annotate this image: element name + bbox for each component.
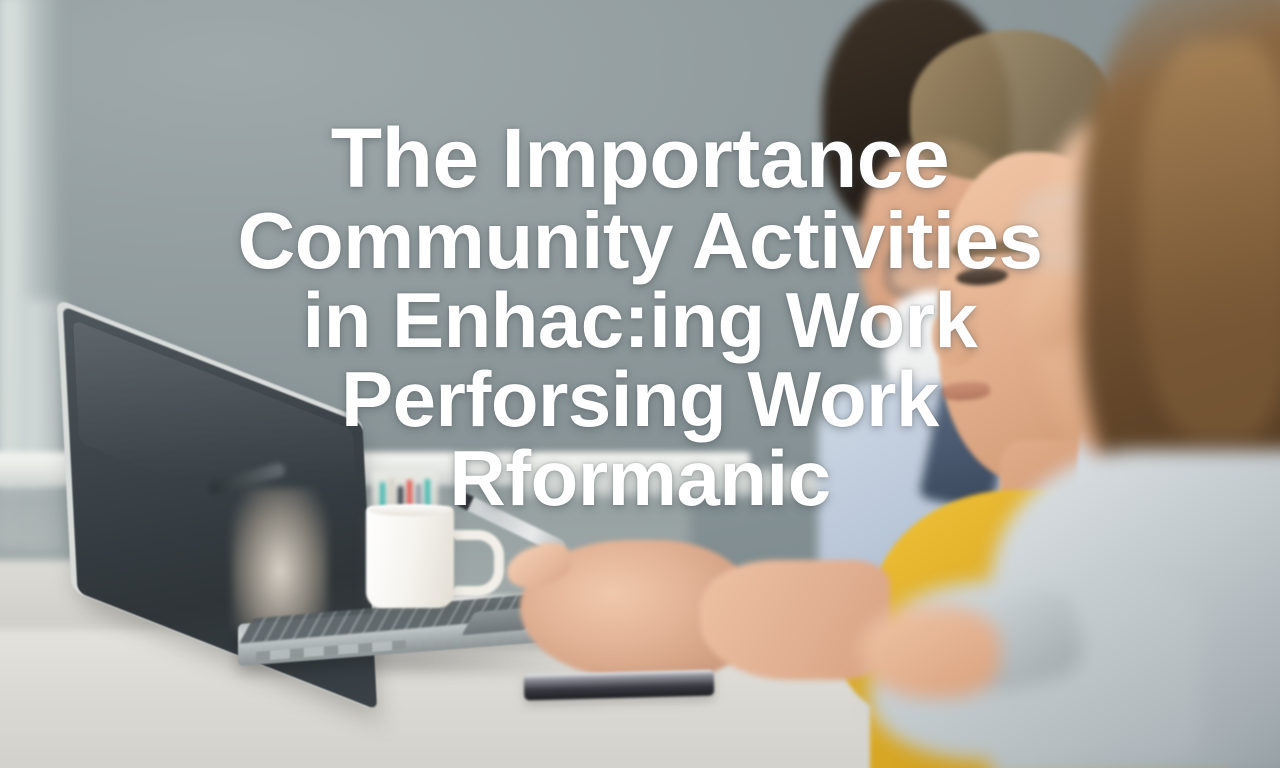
coffee-mug-rim (368, 504, 452, 516)
person-middle-nose (932, 308, 978, 366)
banner-image: The Importance Community Activities in E… (0, 0, 1280, 768)
coffee-mug (366, 506, 454, 608)
person-foreground-hand (860, 606, 1000, 698)
person-foreground (1020, 0, 1280, 768)
person-foreground-hair-highlight (1140, 40, 1280, 440)
smartphone (524, 670, 715, 701)
person-foreground-nose (1020, 280, 1080, 350)
coffee-mug-handle (446, 530, 504, 596)
